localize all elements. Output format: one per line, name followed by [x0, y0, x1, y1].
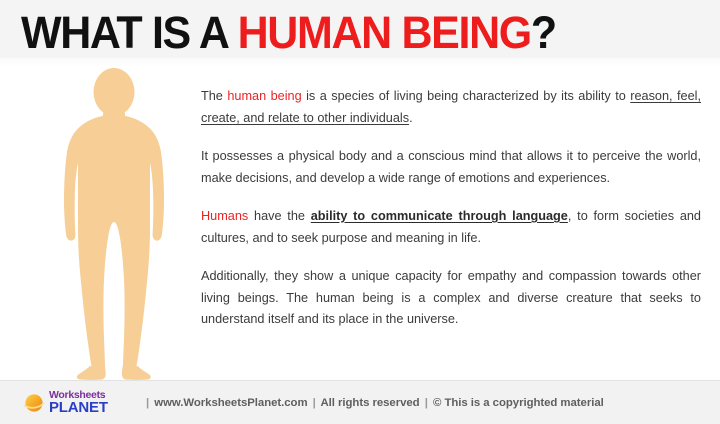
- page-body: The human being is a species of living b…: [0, 66, 720, 380]
- page-title-keyword: HUMAN BEING: [238, 7, 531, 58]
- worksheet-page: WHAT IS A HUMAN BEING?: [0, 0, 720, 424]
- page-header: WHAT IS A HUMAN BEING?: [0, 0, 720, 66]
- paragraph-empathy-and-complexity: Additionally, they show a unique capacit…: [201, 266, 701, 331]
- footer-copyright-text: This is a copyrighted material: [444, 397, 603, 409]
- human-body-silhouette-icon: [38, 68, 190, 380]
- logo-text-planet: PLANET: [49, 400, 108, 415]
- paragraph-body-and-mind: It possesses a physical body and a consc…: [201, 146, 701, 189]
- illustration-panel: [38, 68, 190, 380]
- separator: |: [144, 397, 151, 409]
- text-run: The: [201, 89, 227, 103]
- page-title-prefix: WHAT IS A: [21, 7, 238, 58]
- underline-communicate-through-language: ability to communicate through language: [311, 209, 568, 223]
- planet-icon: [22, 391, 46, 415]
- logo-wordmark: Worksheets PLANET: [49, 390, 108, 415]
- separator: |: [423, 397, 430, 409]
- text-run: have the: [248, 209, 310, 223]
- definition-text-column: The human being is a species of living b…: [201, 86, 701, 331]
- paragraph-language-and-society: Humans have the ability to communicate t…: [201, 206, 701, 249]
- text-run: Additionally, they show a unique capacit…: [201, 269, 701, 326]
- page-title-question-mark: ?: [531, 7, 556, 58]
- worksheets-planet-logo[interactable]: Worksheets PLANET: [22, 390, 132, 415]
- text-run: .: [409, 111, 413, 125]
- footer-credit-line: | www.WorksheetsPlanet.com | All rights …: [144, 397, 604, 409]
- copyright-icon: ©: [433, 397, 441, 409]
- page-footer: Worksheets PLANET | www.WorksheetsPlanet…: [0, 380, 720, 424]
- page-title: WHAT IS A HUMAN BEING?: [21, 10, 556, 56]
- separator: |: [311, 397, 318, 409]
- text-run: is a species of living being characteriz…: [302, 89, 631, 103]
- highlight-human-being: human being: [227, 89, 301, 103]
- highlight-humans: Humans: [201, 209, 248, 223]
- footer-rights: All rights reserved: [321, 397, 420, 409]
- paragraph-definition: The human being is a species of living b…: [201, 86, 701, 129]
- footer-website[interactable]: www.WorksheetsPlanet.com: [154, 397, 307, 409]
- text-run: It possesses a physical body and a consc…: [201, 149, 701, 185]
